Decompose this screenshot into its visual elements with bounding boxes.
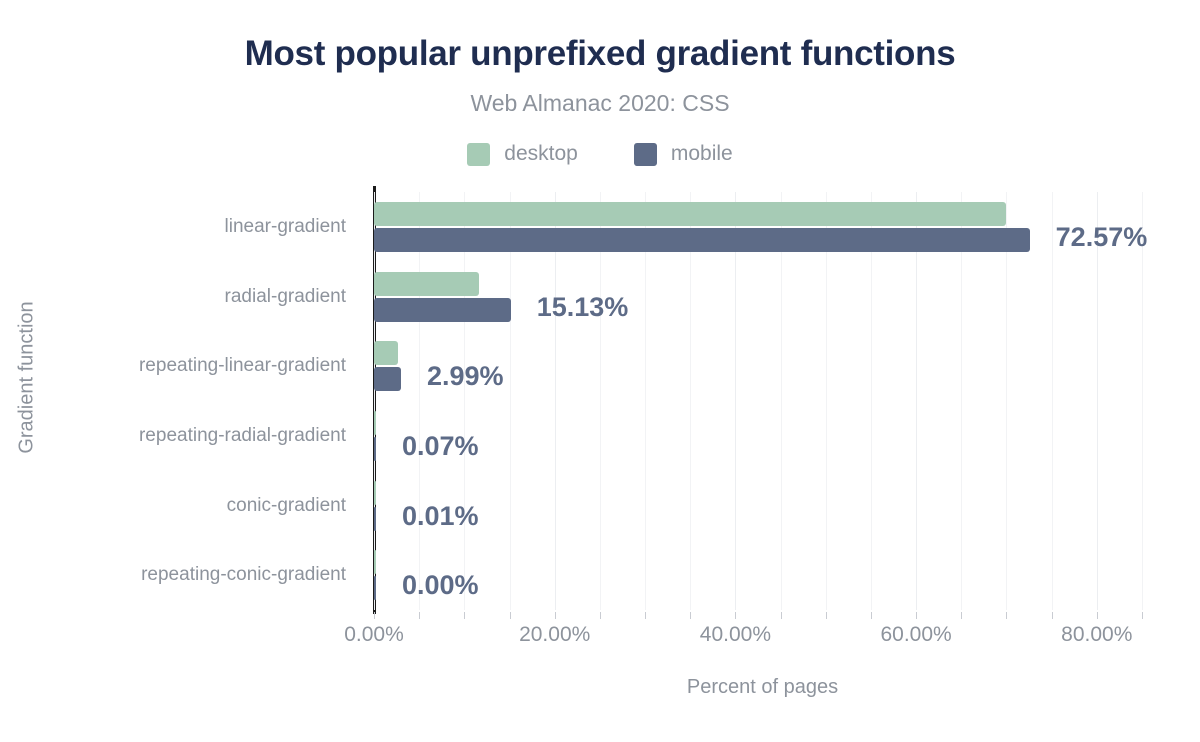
bar-row: 0.07% — [374, 401, 1151, 471]
bar-value-label: 15.13% — [537, 292, 629, 323]
x-axis-label-20.00%: 20.00% — [519, 623, 590, 647]
bar-desktop-conic-gradient[interactable] — [374, 481, 376, 505]
bar-series-group: 72.57%15.13%2.99%0.07%0.01%0.00% — [374, 192, 1151, 610]
bar-desktop-repeating-linear-gradient[interactable] — [374, 341, 398, 365]
x-axis-tick-mark — [419, 612, 420, 619]
x-axis-label-60.00%: 60.00% — [880, 623, 951, 647]
x-axis-tick-mark — [826, 612, 827, 619]
bar-value-label: 2.99% — [427, 361, 504, 392]
chart-container: Most popular unprefixed gradient functio… — [0, 0, 1200, 742]
x-axis-label-40.00%: 40.00% — [700, 623, 771, 647]
x-axis-tick-mark — [781, 612, 782, 619]
bar-mobile-repeating-radial-gradient[interactable] — [374, 437, 376, 461]
y-axis-label-conic-gradient: conic-gradient — [227, 495, 346, 517]
x-axis-tick-labels: 0.00%20.00%40.00%60.00%80.00% — [374, 612, 1151, 652]
x-axis-tick-mark — [645, 612, 646, 619]
bar-value-label: 0.01% — [402, 501, 479, 532]
bar-mobile-repeating-linear-gradient[interactable] — [374, 367, 401, 391]
bar-row: 0.01% — [374, 471, 1151, 541]
x-axis-tick-mark — [600, 612, 601, 619]
bar-value-label: 72.57% — [1056, 222, 1148, 253]
x-axis-tick-mark — [555, 612, 556, 619]
x-axis-tick-mark — [1097, 612, 1098, 619]
chart-title: Most popular unprefixed gradient functio… — [0, 34, 1200, 74]
legend-item-mobile[interactable]: mobile — [634, 142, 733, 166]
legend-swatch-mobile — [634, 143, 657, 166]
y-axis-tick-labels: linear-gradientradial-gradientrepeating-… — [0, 192, 360, 610]
chart-subtitle: Web Almanac 2020: CSS — [0, 90, 1200, 117]
y-axis-label-radial-gradient: radial-gradient — [225, 286, 346, 308]
y-axis-label-repeating-radial-gradient: repeating-radial-gradient — [139, 425, 346, 447]
x-axis-label-0.00%: 0.00% — [344, 623, 404, 647]
bar-row: 15.13% — [374, 262, 1151, 332]
legend-item-desktop[interactable]: desktop — [467, 142, 578, 166]
x-axis-tick-mark — [1142, 612, 1143, 619]
y-axis-title: Gradient function — [16, 278, 39, 478]
y-axis-label-repeating-linear-gradient: repeating-linear-gradient — [139, 355, 346, 377]
bar-mobile-repeating-conic-gradient[interactable] — [374, 576, 376, 600]
x-axis-tick-mark — [1006, 612, 1007, 619]
x-axis-tick-mark — [961, 612, 962, 619]
bar-desktop-radial-gradient[interactable] — [374, 272, 479, 296]
bar-mobile-radial-gradient[interactable] — [374, 298, 511, 322]
x-axis-tick-mark — [1052, 612, 1053, 619]
legend-label-mobile: mobile — [671, 142, 733, 166]
x-axis-tick-mark — [871, 612, 872, 619]
bar-row: 2.99% — [374, 331, 1151, 401]
y-axis-label-repeating-conic-gradient: repeating-conic-gradient — [141, 564, 346, 586]
bar-desktop-repeating-radial-gradient[interactable] — [374, 411, 376, 435]
plot-area: 72.57%15.13%2.99%0.07%0.01%0.00% — [374, 192, 1151, 610]
chart-legend: desktopmobile — [0, 142, 1200, 166]
x-axis-tick-mark — [916, 612, 917, 619]
x-axis-title: Percent of pages — [374, 676, 1151, 699]
bar-desktop-repeating-conic-gradient[interactable] — [374, 550, 376, 574]
x-axis-tick-mark — [464, 612, 465, 619]
bar-row: 0.00% — [374, 540, 1151, 610]
x-axis-label-80.00%: 80.00% — [1061, 623, 1132, 647]
bar-value-label: 0.07% — [402, 431, 479, 462]
bar-value-label: 0.00% — [402, 570, 479, 601]
x-axis-tick-mark — [690, 612, 691, 619]
legend-label-desktop: desktop — [504, 142, 578, 166]
y-axis-label-linear-gradient: linear-gradient — [225, 216, 346, 238]
bar-desktop-linear-gradient[interactable] — [374, 202, 1006, 226]
legend-swatch-desktop — [467, 143, 490, 166]
bar-mobile-linear-gradient[interactable] — [374, 228, 1030, 252]
x-axis-tick-mark — [510, 612, 511, 619]
bar-mobile-conic-gradient[interactable] — [374, 507, 376, 531]
bar-row: 72.57% — [374, 192, 1151, 262]
x-axis-tick-mark — [374, 612, 375, 619]
x-axis-tick-mark — [735, 612, 736, 619]
